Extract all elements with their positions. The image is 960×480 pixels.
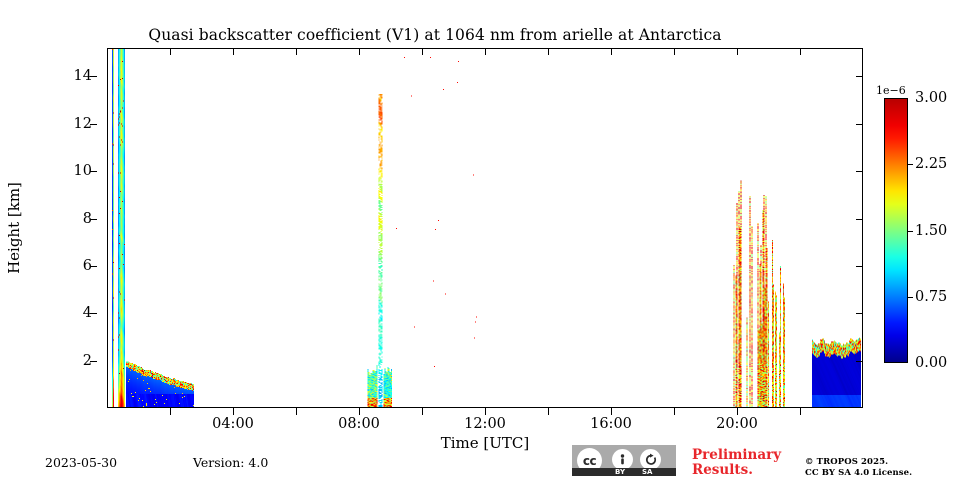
y-tick-label: 6 (83, 258, 92, 274)
heatmap-plot-area[interactable] (107, 48, 863, 408)
x-tick-label: 04:00 (212, 416, 254, 432)
x-tick-mark (737, 408, 738, 415)
heatmap-data-canvas (108, 49, 862, 407)
copyright-block: © TROPOS 2025. CC BY SA 4.0 License. (805, 457, 912, 479)
colorbar-exponent-label: 1e−6 (876, 84, 906, 97)
colorbar-tick-mark (908, 231, 913, 232)
x-tick-mark (359, 408, 360, 415)
preliminary-line-2: Results. (692, 463, 781, 478)
y-tick-mark (90, 219, 97, 220)
colorbar[interactable] (884, 98, 908, 363)
preliminary-results-note: Preliminary Results. (692, 448, 781, 478)
y-tick-mark (90, 76, 97, 77)
person-glyph (616, 453, 629, 466)
cc-by-tag: BY (615, 468, 625, 476)
y-tick-mark (90, 266, 97, 267)
cc-sa-tag: SA (642, 468, 652, 476)
y-tick-label: 4 (83, 305, 92, 321)
colorbar-tick-mark (908, 297, 913, 298)
heatmap-canvas-layer (108, 49, 862, 407)
y-tick-label: 8 (83, 211, 92, 227)
x-tick-mark (611, 408, 612, 415)
x-axis-title: Time [UTC] (441, 434, 530, 452)
y-tick-label: 14 (74, 68, 92, 84)
y-tick-mark (90, 171, 97, 172)
x-tick-mark (548, 408, 549, 415)
version-label: Version: 4.0 (193, 455, 268, 470)
x-tick-mark (674, 408, 675, 415)
cc-badge-icons: cc (572, 445, 676, 468)
colorbar-tick-label: 1.50 (915, 223, 947, 239)
y-tick-mark (90, 124, 97, 125)
chart-title: Quasi backscatter coefficient (V1) at 10… (0, 26, 870, 44)
date-label: 2023-05-30 (45, 455, 117, 470)
x-tick-label: 16:00 (590, 416, 632, 432)
y-tick-label: 10 (74, 163, 92, 179)
copyright-line-1: © TROPOS 2025. (805, 457, 912, 468)
x-tick-label: 20:00 (716, 416, 758, 432)
x-tick-mark (170, 408, 171, 415)
creative-commons-badge[interactable]: cc BY SA (572, 445, 676, 476)
colorbar-tick-label: 3.00 (915, 90, 947, 106)
x-tick-mark (296, 408, 297, 415)
y-tick-label: 2 (83, 353, 92, 369)
figure-root: Quasi backscatter coefficient (V1) at 10… (0, 0, 960, 480)
y-tick-mark (90, 313, 97, 314)
colorbar-tick-label: 2.25 (915, 156, 947, 172)
colorbar-tick-mark (908, 164, 913, 165)
colorbar-gradient (885, 99, 907, 362)
cc-by-person-icon (612, 449, 633, 470)
cc-sa-share-alike-icon (640, 449, 661, 470)
y-axis-title: Height [km] (5, 182, 23, 274)
x-tick-mark (485, 408, 486, 415)
colorbar-tick-label: 0.00 (915, 355, 947, 371)
x-tick-mark (233, 408, 234, 415)
license-line-2: CC BY SA 4.0 License. (805, 468, 912, 479)
share-alike-glyph (644, 453, 658, 467)
x-tick-mark (800, 408, 801, 415)
y-tick-label: 12 (74, 116, 92, 132)
x-tick-mark (422, 408, 423, 415)
preliminary-line-1: Preliminary (692, 448, 781, 463)
x-tick-label: 08:00 (338, 416, 380, 432)
x-tick-label: 12:00 (464, 416, 506, 432)
y-tick-mark (90, 361, 97, 362)
colorbar-tick-label: 0.75 (915, 289, 947, 305)
